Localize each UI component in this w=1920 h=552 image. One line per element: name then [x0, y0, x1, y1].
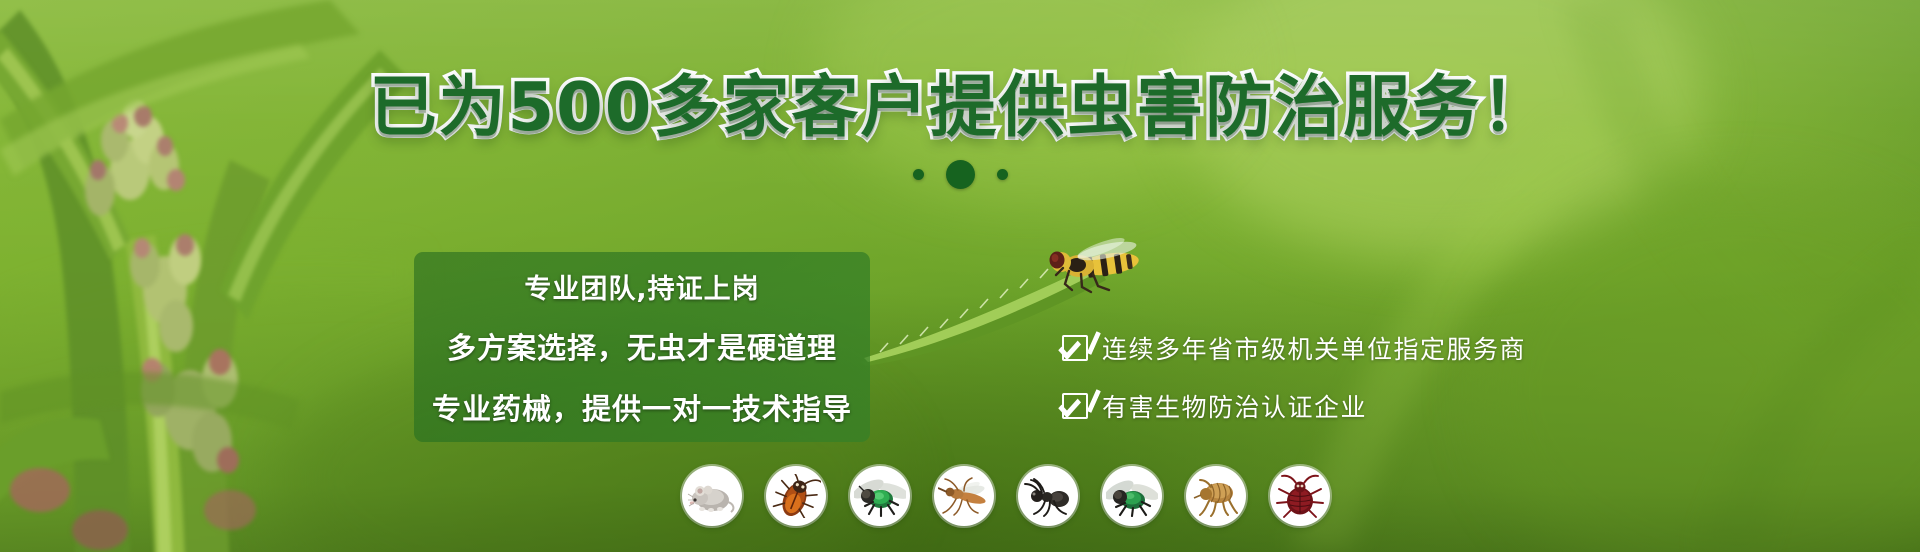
- hoverfly-icon: [1035, 238, 1155, 308]
- pest-control-banner: 已为500多家客户提供虫害防治服务！: [0, 0, 1920, 552]
- checkbox-checked-icon: [1062, 393, 1088, 419]
- check-tail: [1073, 383, 1101, 413]
- checkbox-checked-icon: [1062, 335, 1088, 361]
- slogan-line-2: 多方案选择，无虫才是硬道理: [447, 325, 837, 367]
- feature-item-1: 连续多年省市级机关单位指定服务商: [1062, 330, 1526, 366]
- cockroach-icon[interactable]: [766, 466, 826, 526]
- flea-icon[interactable]: [1186, 466, 1246, 526]
- feature-item-2: 有害生物防治认证企业: [1062, 388, 1526, 424]
- bedbug-icon[interactable]: [1270, 466, 1330, 526]
- dot-small-right: [997, 169, 1008, 180]
- slogan-line-3: 专业药械，提供一对一技术指导: [432, 386, 852, 428]
- housefly-icon[interactable]: [1102, 466, 1162, 526]
- ant-icon[interactable]: [1018, 466, 1078, 526]
- mouse-icon[interactable]: [682, 466, 742, 526]
- decorative-dots: [0, 160, 1920, 189]
- dot-small-left: [913, 169, 924, 180]
- pest-icon-row: [682, 466, 1330, 526]
- slogan-panel: 专业团队,持证上岗 多方案选择，无虫才是硬道理 专业药械，提供一对一技术指导: [414, 252, 870, 442]
- check-tail: [1073, 325, 1101, 355]
- feature-list: 连续多年省市级机关单位指定服务商 有害生物防治认证企业: [1062, 330, 1526, 424]
- page-title: 已为500多家客户提供虫害防治服务！: [0, 74, 1920, 141]
- green-fly-icon[interactable]: [850, 466, 910, 526]
- page-title-text: 已为500多家客户提供虫害防治服务！: [370, 68, 1551, 146]
- slogan-line-1: 专业团队,持证上岗: [524, 267, 759, 306]
- mosquito-icon[interactable]: [934, 466, 994, 526]
- feature-text-2: 有害生物防治认证企业: [1102, 388, 1367, 424]
- dot-large-center: [946, 160, 975, 189]
- feature-text-1: 连续多年省市级机关单位指定服务商: [1102, 330, 1526, 366]
